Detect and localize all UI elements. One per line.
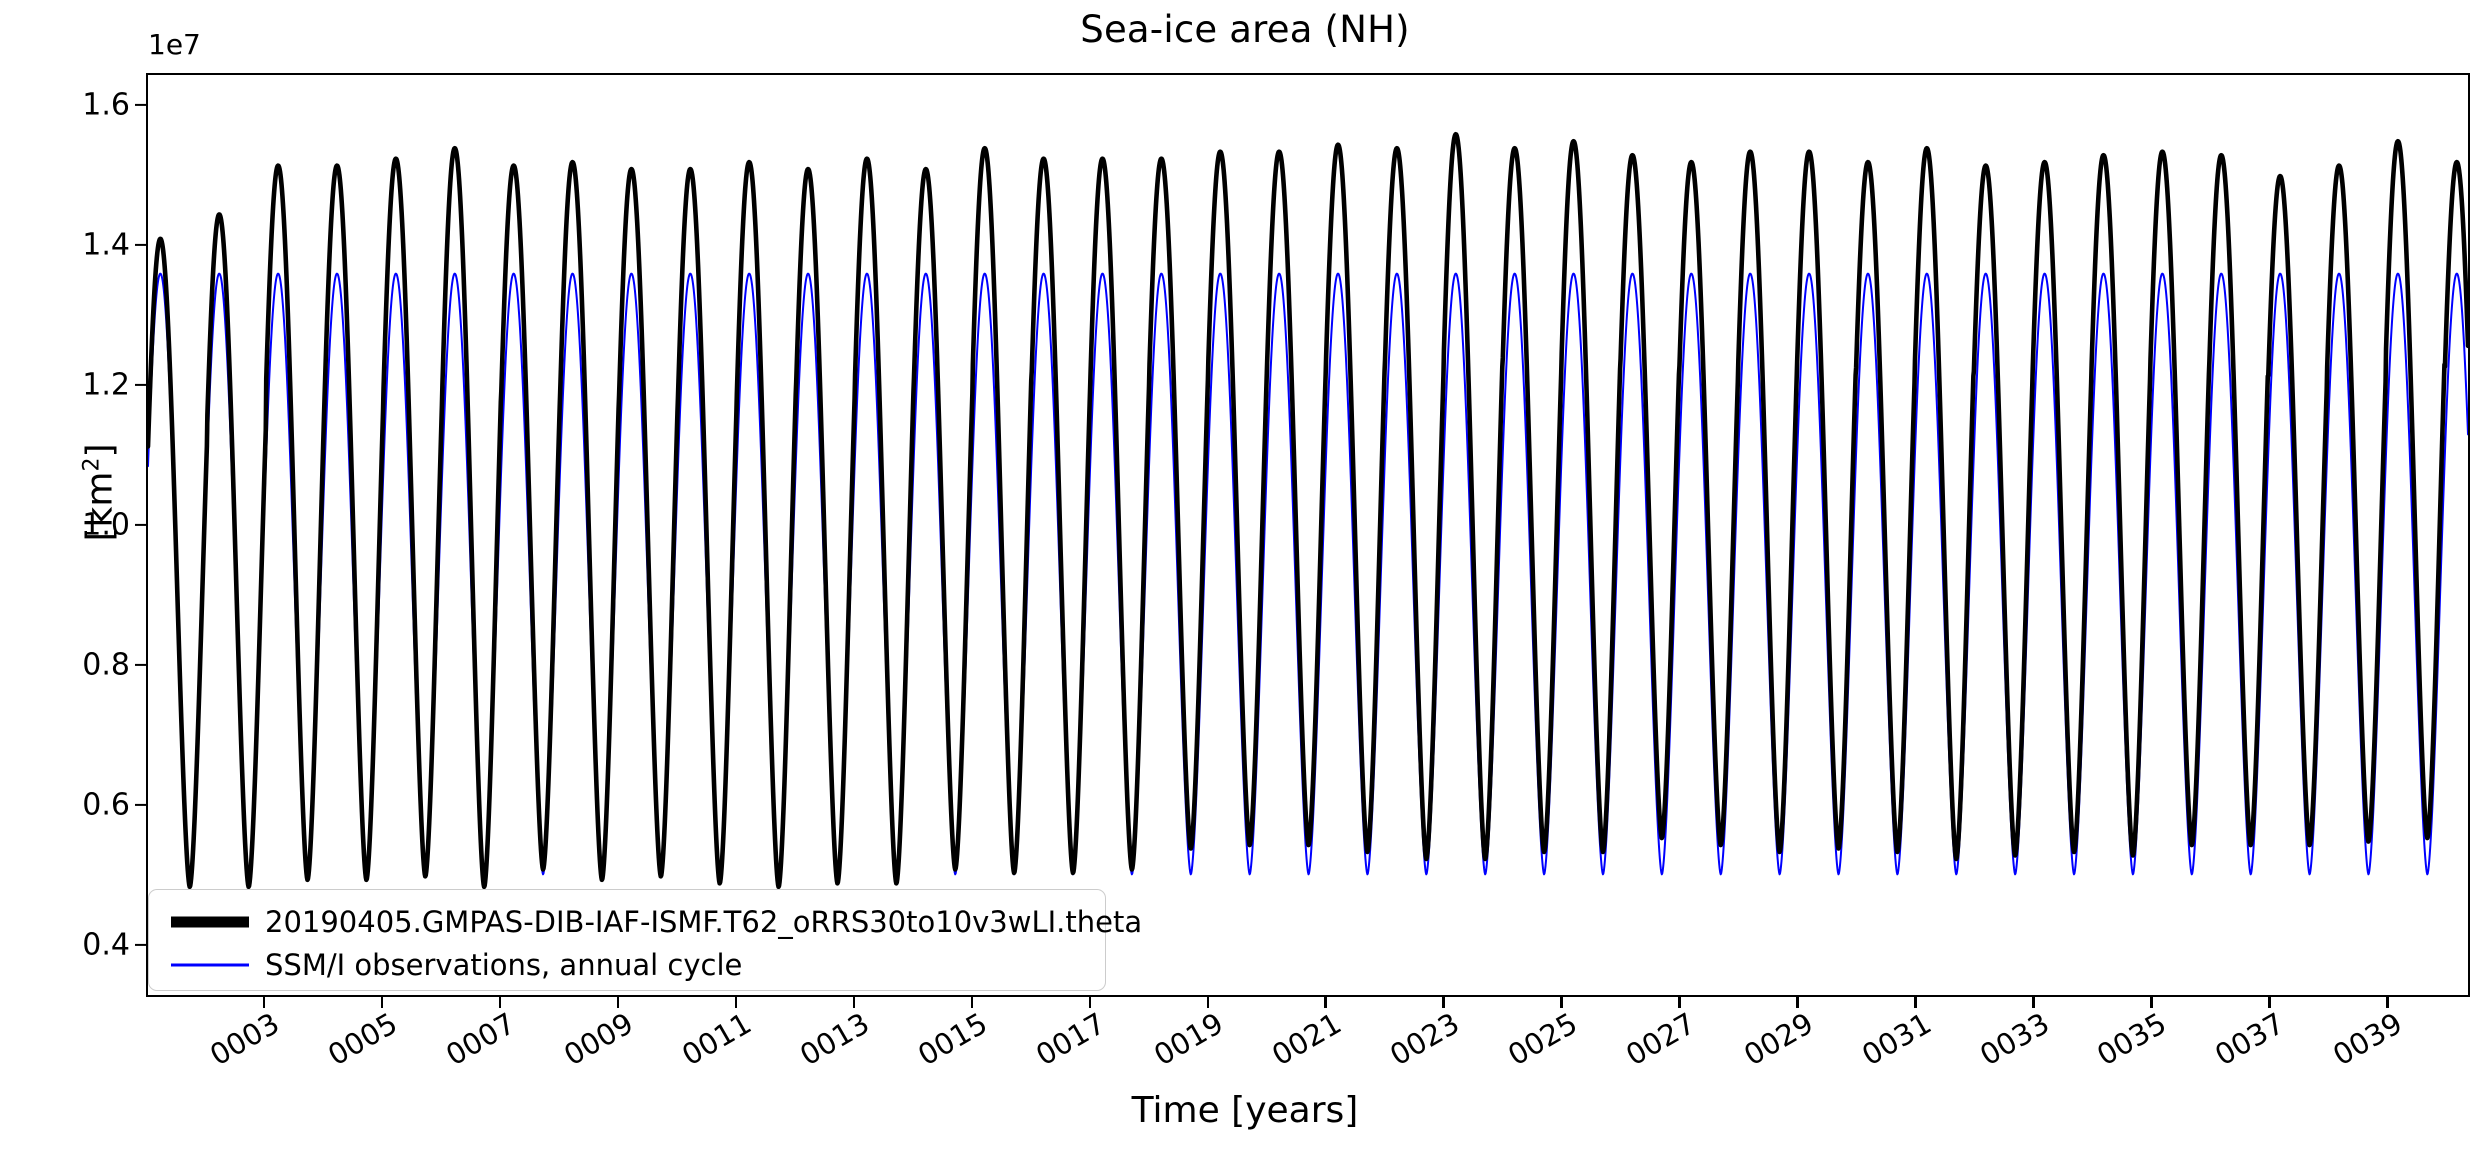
y-tick-mark <box>135 243 146 245</box>
x-tick-label: 0011 <box>657 1006 757 1083</box>
x-tick-mark <box>735 997 737 1008</box>
y-tick-mark <box>135 523 146 525</box>
y-tick-mark <box>135 803 146 805</box>
x-tick-label: 0023 <box>1365 1006 1465 1083</box>
x-tick-mark <box>1678 997 1680 1008</box>
legend-item-observations[interactable]: SSM/I observations, annual cycle <box>149 943 1105 986</box>
legend-label-model: 20190405.GMPAS-DIB-IAF-ISMF.T62_oRRS30to… <box>265 905 1142 939</box>
y-tick-label: 0.6 <box>10 787 130 822</box>
series-lines <box>148 75 2468 995</box>
x-tick-label: 0007 <box>421 1006 521 1083</box>
line-model-run <box>148 134 2468 887</box>
y-tick-mark <box>135 943 146 945</box>
x-tick-label: 0035 <box>2072 1006 2172 1083</box>
x-axis-title: Time [years] <box>0 1090 2490 1131</box>
x-tick-label: 0019 <box>1129 1006 1229 1083</box>
x-tick-label: 0027 <box>1600 1006 1700 1083</box>
x-tick-label: 0039 <box>2308 1006 2408 1083</box>
chart-legend[interactable]: 20190405.GMPAS-DIB-IAF-ISMF.T62_oRRS30to… <box>148 889 1106 991</box>
page-title: Sea-ice area (NH) <box>0 8 2490 51</box>
x-tick-mark <box>2032 997 2034 1008</box>
x-tick-label: 0017 <box>1011 1006 1111 1083</box>
legend-swatch-observations <box>171 955 249 975</box>
x-tick-mark <box>1089 997 1091 1008</box>
y-tick-label: 1.0 <box>10 507 130 542</box>
x-tick-label: 0031 <box>1836 1006 1936 1083</box>
y-tick-label: 1.2 <box>10 367 130 402</box>
x-tick-mark <box>1796 997 1798 1008</box>
legend-label-observations: SSM/I observations, annual cycle <box>265 948 742 982</box>
x-tick-mark <box>971 997 973 1008</box>
x-tick-label: 0025 <box>1482 1006 1582 1083</box>
x-tick-label: 0021 <box>1247 1006 1347 1083</box>
y-tick-mark <box>135 103 146 105</box>
y-tick-label: 0.8 <box>10 647 130 682</box>
legend-item-model[interactable]: 20190405.GMPAS-DIB-IAF-ISMF.T62_oRRS30to… <box>149 900 1105 943</box>
x-tick-mark <box>1560 997 1562 1008</box>
x-tick-mark <box>1207 997 1209 1008</box>
x-tick-label: 0015 <box>893 1006 993 1083</box>
legend-swatch-model <box>171 912 249 932</box>
y-tick-label: 1.4 <box>10 227 130 262</box>
x-tick-label: 0037 <box>2190 1006 2290 1083</box>
plot-area <box>146 73 2470 997</box>
y-tick-label: 1.6 <box>10 87 130 122</box>
y-tick-label: 0.4 <box>10 927 130 962</box>
x-tick-label: 0009 <box>539 1006 639 1083</box>
x-tick-label: 0029 <box>1718 1006 1818 1083</box>
y-tick-mark <box>135 663 146 665</box>
y-axis-offset-label: 1e7 <box>148 28 201 61</box>
x-tick-mark <box>853 997 855 1008</box>
x-tick-label: 0005 <box>303 1006 403 1083</box>
x-tick-mark <box>1914 997 1916 1008</box>
figure-canvas: Sea-ice area (NH) 1e7 [km2] 0.40.60.81.0… <box>0 0 2490 1151</box>
y-tick-mark <box>135 383 146 385</box>
x-tick-label: 0003 <box>185 1006 285 1083</box>
x-tick-label: 0033 <box>1954 1006 2054 1083</box>
x-tick-mark <box>1442 997 1444 1008</box>
x-tick-label: 0013 <box>775 1006 875 1083</box>
x-tick-mark <box>1324 997 1326 1008</box>
